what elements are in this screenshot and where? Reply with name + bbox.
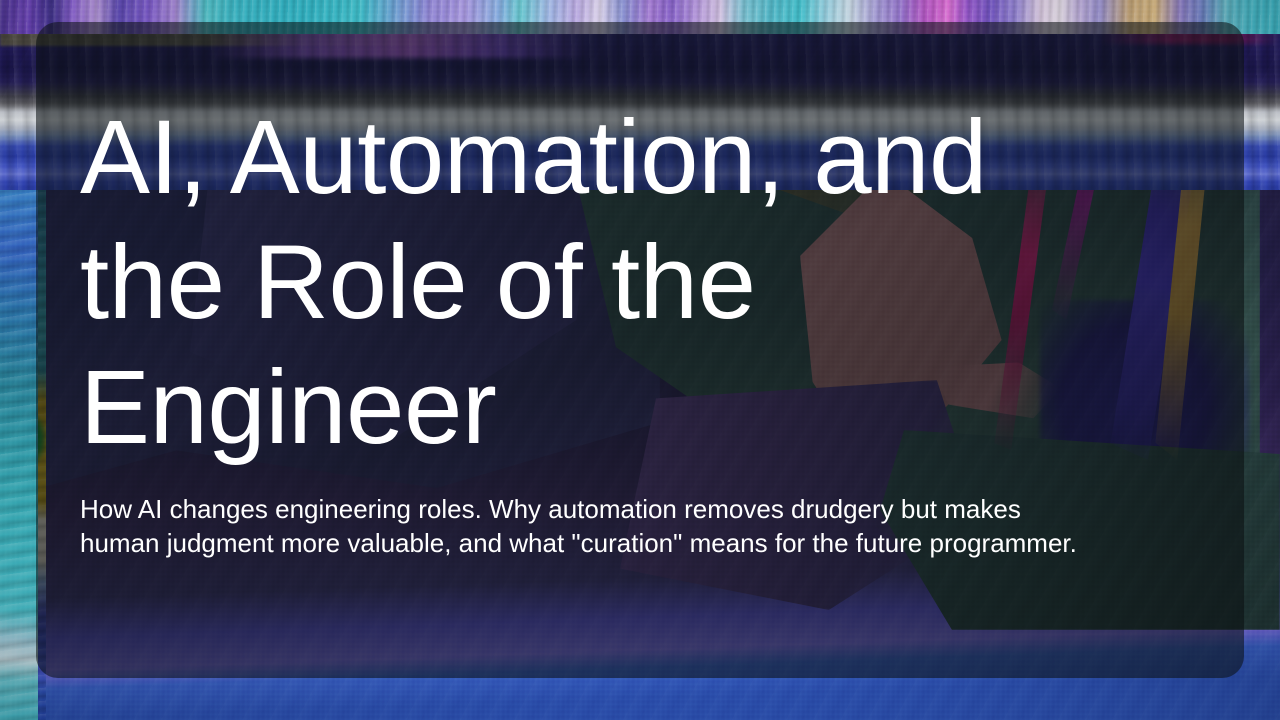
page-title: AI, Automation, and the Role of the Engi… <box>80 96 1090 471</box>
paint-edge-right <box>0 0 38 720</box>
slide-subtitle: How AI changes engineering roles. Why au… <box>80 493 1085 561</box>
paint-edge-right-texture <box>0 0 38 720</box>
paint-stroke-yellow <box>0 328 39 381</box>
slide-text-block: AI, Automation, and the Role of the Engi… <box>80 96 1090 560</box>
title-slide: AI, Automation, and the Role of the Engi… <box>0 0 1280 720</box>
